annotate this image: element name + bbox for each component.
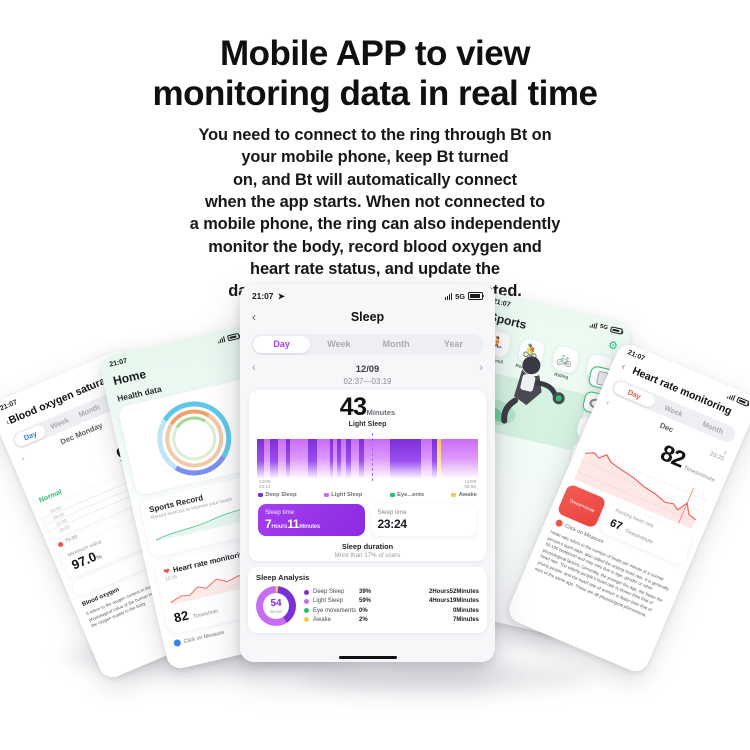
hypnogram-bar <box>270 439 278 479</box>
sleep-hypnogram-chart: 12/0823:24 12/0906:50 <box>257 433 478 489</box>
page-title-line2: monitoring data in real time <box>0 74 750 114</box>
tab-bar-sleep[interactable]: Day Week Month Year <box>251 334 484 355</box>
hypnogram-bar <box>421 439 432 479</box>
hypnogram-bar <box>257 439 264 479</box>
subtitle-line: your mobile phone, keep Bt turned <box>0 146 750 168</box>
score-value: 54 <box>270 599 281 609</box>
measure-icon <box>173 639 181 647</box>
sleep-summary: 02:37—03:19 <box>240 374 495 386</box>
sleep-score: 54 Score <box>256 586 296 626</box>
hypnogram-card: 43Minutes Light Sleep <box>249 390 486 561</box>
tab-month[interactable]: Month <box>368 338 425 351</box>
analysis-row: Light Sleep 59% 4Hours19Minutes <box>304 597 479 606</box>
measure-label: Click on Measure <box>183 629 225 644</box>
hypnogram-bar <box>308 439 317 479</box>
sleep-tiles: Sleep time 7Hours11Minutes Sleep time 23… <box>249 498 486 536</box>
status-bar: 21:07 ➤ 5G <box>240 284 495 304</box>
sleep-score-ring: 54 Score <box>256 586 296 626</box>
chart-end-label: 12/0906:50 <box>465 479 477 490</box>
chart-start-label: 12/0823:24 <box>259 479 271 490</box>
duration-sub: More than 17% of users <box>249 552 486 559</box>
resting-unit: Times/minute <box>624 528 654 545</box>
hypnogram-bar <box>264 439 271 479</box>
tab-day[interactable]: Day <box>253 336 310 353</box>
tab-year[interactable]: Year <box>425 338 482 351</box>
subtitle-line: monitor the body, record blood oxygen an… <box>0 236 750 258</box>
nav-bar: ‹ Sleep <box>240 304 495 328</box>
resting-value: 67 <box>608 517 624 533</box>
subtitle-line: when the app starts. When not connected … <box>0 191 750 213</box>
tile-total-label: Sleep time <box>265 509 358 516</box>
signal-icon <box>589 321 598 328</box>
tile-start-label: Sleep time <box>378 509 471 516</box>
date-row-sleep[interactable]: ‹ 12/09 › <box>240 355 495 374</box>
date-label: 12/09 <box>356 363 379 374</box>
fan-shadow <box>300 662 590 692</box>
legend-item-deep-sleep: Deep Sleep <box>258 492 297 498</box>
analysis-body: 54 Score Deep Sleep 39% 2Hours52Minutes <box>256 586 479 626</box>
battery-icon <box>468 292 483 300</box>
analysis-row: Deep Sleep 39% 2Hours52Minutes <box>304 588 479 597</box>
prev-date-icon[interactable]: ‹ <box>605 398 611 407</box>
signal-icon <box>727 392 736 400</box>
analysis-row: Eye movements 0% 0Minutes <box>304 606 479 615</box>
hr-unit: Times/min <box>193 609 219 621</box>
network-label: 5G <box>599 323 608 331</box>
legend-item-light-sleep: Light Sleep <box>324 492 363 498</box>
phone-sleep[interactable]: 21:07 ➤ 5G ‹ Sleep Day Week Month Year <box>240 284 495 662</box>
network-label: 5G <box>455 292 465 301</box>
page-header: Mobile APP to view monitoring data in re… <box>0 0 750 303</box>
status-time-group: 21:07 ➤ <box>252 291 285 301</box>
heart-icon: ❤ <box>163 566 172 576</box>
sleep-range: 02:37—03:19 <box>240 377 495 386</box>
sleep-duration-summary: Sleep duration More than 17% of users <box>249 536 486 559</box>
sleep-analysis-card: Sleep Analysis 54 Score Deep Sleep 39% <box>248 567 487 633</box>
battery-icon <box>610 326 623 335</box>
legend-item-eye-movements: Eye...ents <box>390 492 424 498</box>
legend-dot-icon <box>304 617 309 622</box>
home-indicator <box>339 656 397 659</box>
legend-item-awake: Awake <box>451 492 477 498</box>
analysis-rows: Deep Sleep 39% 2Hours52Minutes Light Sle… <box>304 588 479 625</box>
legend-label: 70-99 <box>64 534 78 545</box>
signal-icon <box>217 336 226 343</box>
tile-total-value: 7Hours11Minutes <box>265 517 358 531</box>
duration-heading: Sleep duration <box>249 542 486 551</box>
legend-dot-icon <box>304 590 309 595</box>
hypnogram-bar <box>317 439 330 479</box>
hypnogram-bar <box>364 439 391 479</box>
analysis-title: Sleep Analysis <box>256 573 479 582</box>
sleep-legend: Deep Sleep Light Sleep Eye...ents Awake <box>249 489 486 498</box>
tile-total-sleep[interactable]: Sleep time 7Hours11Minutes <box>258 504 365 536</box>
battery-icon <box>227 332 240 341</box>
tile-sleep-start[interactable]: Sleep time 23:24 <box>371 504 478 536</box>
phone-fan-stage: 21:07 ‹ Blood oxygen saturation Day Week… <box>0 272 750 750</box>
hypnogram-bar <box>351 439 359 479</box>
sleep-duration-value: 43Minutes <box>249 393 486 422</box>
page-title: Mobile APP to view monitoring data in re… <box>0 34 750 113</box>
signal-icon <box>445 292 452 300</box>
hr-value: 82 <box>172 608 189 626</box>
hypnogram-marker <box>372 433 373 481</box>
analysis-row: Awake 2% 7Minutes <box>304 615 479 624</box>
hypnogram-bar <box>441 439 478 479</box>
tab-week[interactable]: Week <box>310 338 367 351</box>
legend-dot-icon <box>304 599 309 604</box>
tile-start-value: 23:24 <box>378 517 471 531</box>
legend-dot-icon <box>304 608 309 613</box>
legend-dot-icon <box>57 541 64 548</box>
sleep-stage-label: Light Sleep <box>249 421 486 428</box>
page-title-sleep: Sleep <box>240 310 495 324</box>
status-icons: 5G <box>445 292 483 301</box>
subtitle-line: on, and Bt will automatically connect <box>0 169 750 191</box>
subtitle-line: a mobile phone, the ring can also indepe… <box>0 213 750 235</box>
prev-date-icon[interactable]: ‹ <box>20 454 26 463</box>
activity-rings-chart <box>150 394 239 483</box>
location-arrow-icon: ➤ <box>278 291 285 301</box>
hypnogram-bar <box>390 439 421 479</box>
hypnogram-bars <box>257 439 478 479</box>
status-time: 21:07 <box>252 291 273 301</box>
sleep-duration-block: 43Minutes Light Sleep <box>249 393 486 428</box>
score-label: Score <box>270 609 282 614</box>
prev-date-icon[interactable]: ‹ <box>252 362 256 374</box>
subtitle-line: You need to connect to the ring through … <box>0 124 750 146</box>
hypnogram-bar <box>278 439 286 479</box>
hypnogram-bar <box>290 439 308 479</box>
next-date-icon[interactable]: › <box>479 362 483 374</box>
page-title-line1: Mobile APP to view <box>220 34 530 73</box>
